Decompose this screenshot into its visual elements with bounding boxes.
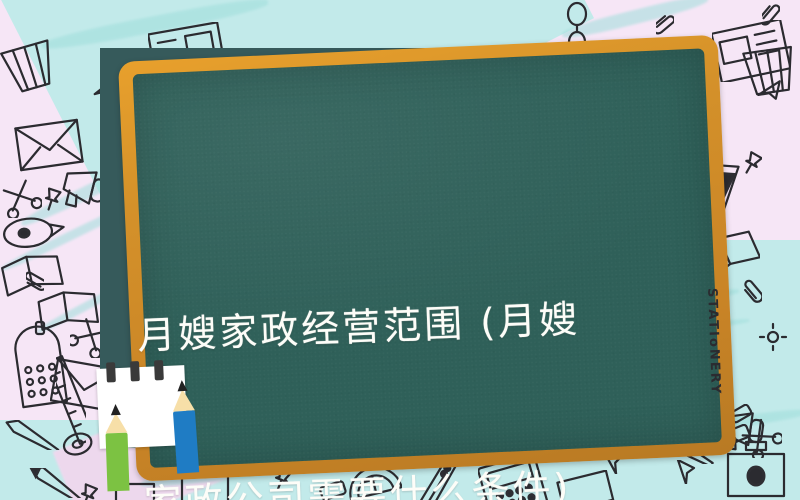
scissors-doodle bbox=[740, 416, 782, 458]
paperclip-doodle bbox=[656, 10, 674, 38]
pencil-wood bbox=[171, 388, 194, 411]
pushpin-doodle bbox=[742, 150, 762, 176]
pencil-body bbox=[173, 410, 199, 473]
pencil-graphite-tip bbox=[177, 380, 188, 392]
pushpin-doodle bbox=[42, 186, 62, 212]
ink-stamp-doodle bbox=[0, 210, 70, 254]
spiral-binding-ring bbox=[106, 362, 116, 382]
paperclip-doodle bbox=[762, 0, 780, 28]
pencil-graphite-tip bbox=[110, 404, 120, 415]
pencil-wood bbox=[105, 413, 128, 434]
tape-doodle bbox=[58, 428, 98, 462]
spiral-binding-ring bbox=[130, 361, 140, 381]
envelope-doodle bbox=[14, 118, 84, 172]
spiral-binding-ring bbox=[154, 360, 164, 380]
page-title: 月嫂家政经营范围 (月嫂 家政公司需要什么条件) bbox=[132, 175, 709, 500]
notebook-doodle bbox=[0, 36, 62, 98]
paper-plane-doodle bbox=[756, 80, 784, 104]
page-canvas: 月嫂家政经营范围 (月嫂 家政公司需要什么条件) STATIoNERY bbox=[0, 0, 800, 500]
pencil-body bbox=[106, 433, 130, 492]
paperclip-doodle bbox=[744, 276, 762, 304]
clip-doodle bbox=[758, 322, 788, 352]
pencil-doodle bbox=[24, 468, 94, 498]
title-line-1: 月嫂家政经营范围 (月嫂 bbox=[136, 286, 698, 363]
green-pencil bbox=[104, 404, 129, 492]
title-line-2: 家政公司需要什么条件) bbox=[143, 454, 705, 500]
calculator-doodle bbox=[8, 322, 78, 412]
